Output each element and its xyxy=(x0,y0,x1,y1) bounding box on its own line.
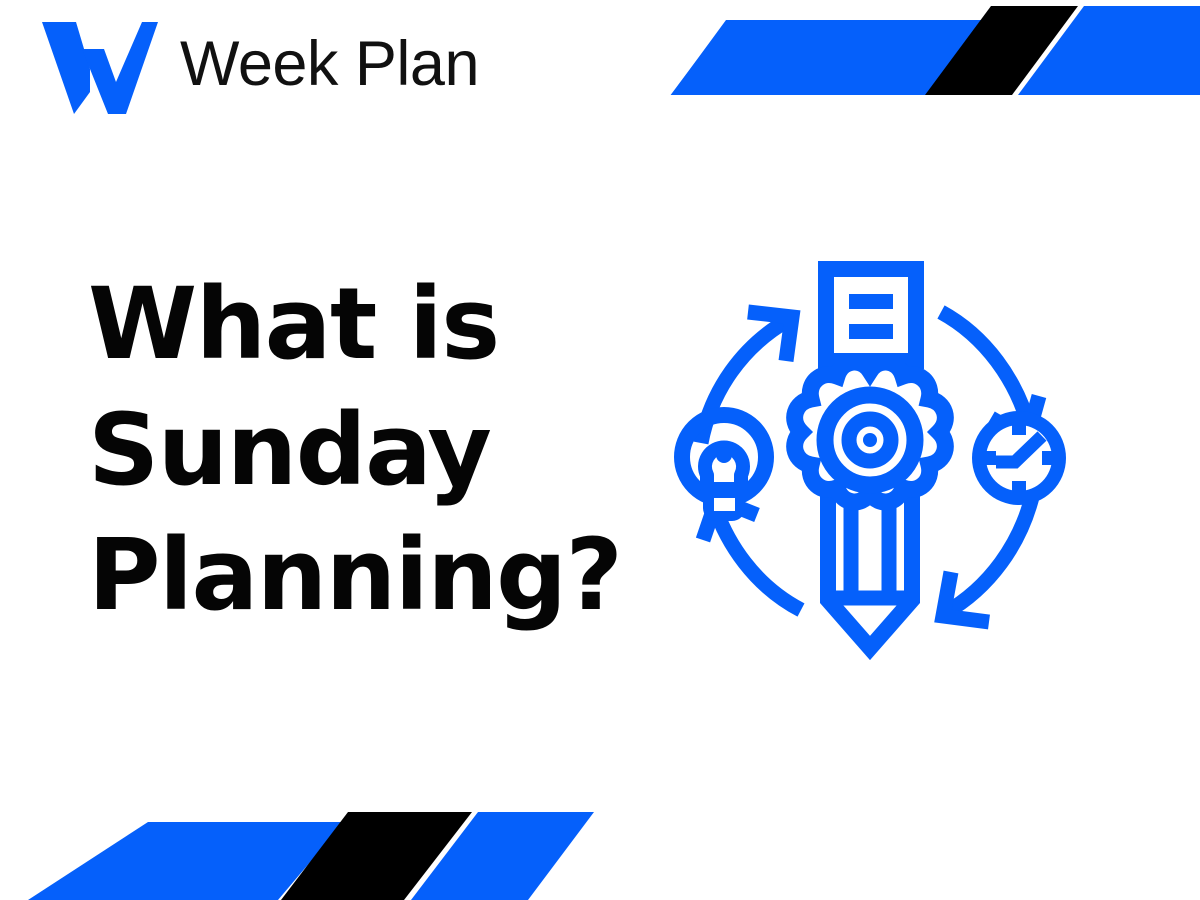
slide-canvas: Week Plan What is Sunday Planning? xyxy=(0,0,1200,900)
lightbulb-icon xyxy=(682,415,766,521)
clock-icon xyxy=(972,411,1066,505)
planning-cycle-illustration xyxy=(655,250,1085,680)
week-plan-w-mark-icon xyxy=(30,14,158,114)
curved-arrow-bottom-right-icon xyxy=(943,493,1033,622)
headline-line-2: Sunday xyxy=(88,388,628,514)
brand-logo[interactable]: Week Plan xyxy=(30,14,479,114)
logo-left-stroke xyxy=(42,22,90,114)
headline-line-3: Planning? xyxy=(88,513,628,639)
brand-name: Week Plan xyxy=(180,33,479,96)
pencil-body xyxy=(828,495,912,648)
logo-right-v xyxy=(82,22,158,114)
page-title: What is Sunday Planning? xyxy=(88,262,628,639)
document-list-icon xyxy=(826,269,916,361)
decoration-stripes-bottom-left xyxy=(0,790,600,900)
decoration-stripes-top-right xyxy=(640,0,1200,110)
target-center-dot xyxy=(863,433,877,447)
gear-target-pencil-icon xyxy=(795,362,946,648)
headline-line-1: What is xyxy=(88,262,628,388)
